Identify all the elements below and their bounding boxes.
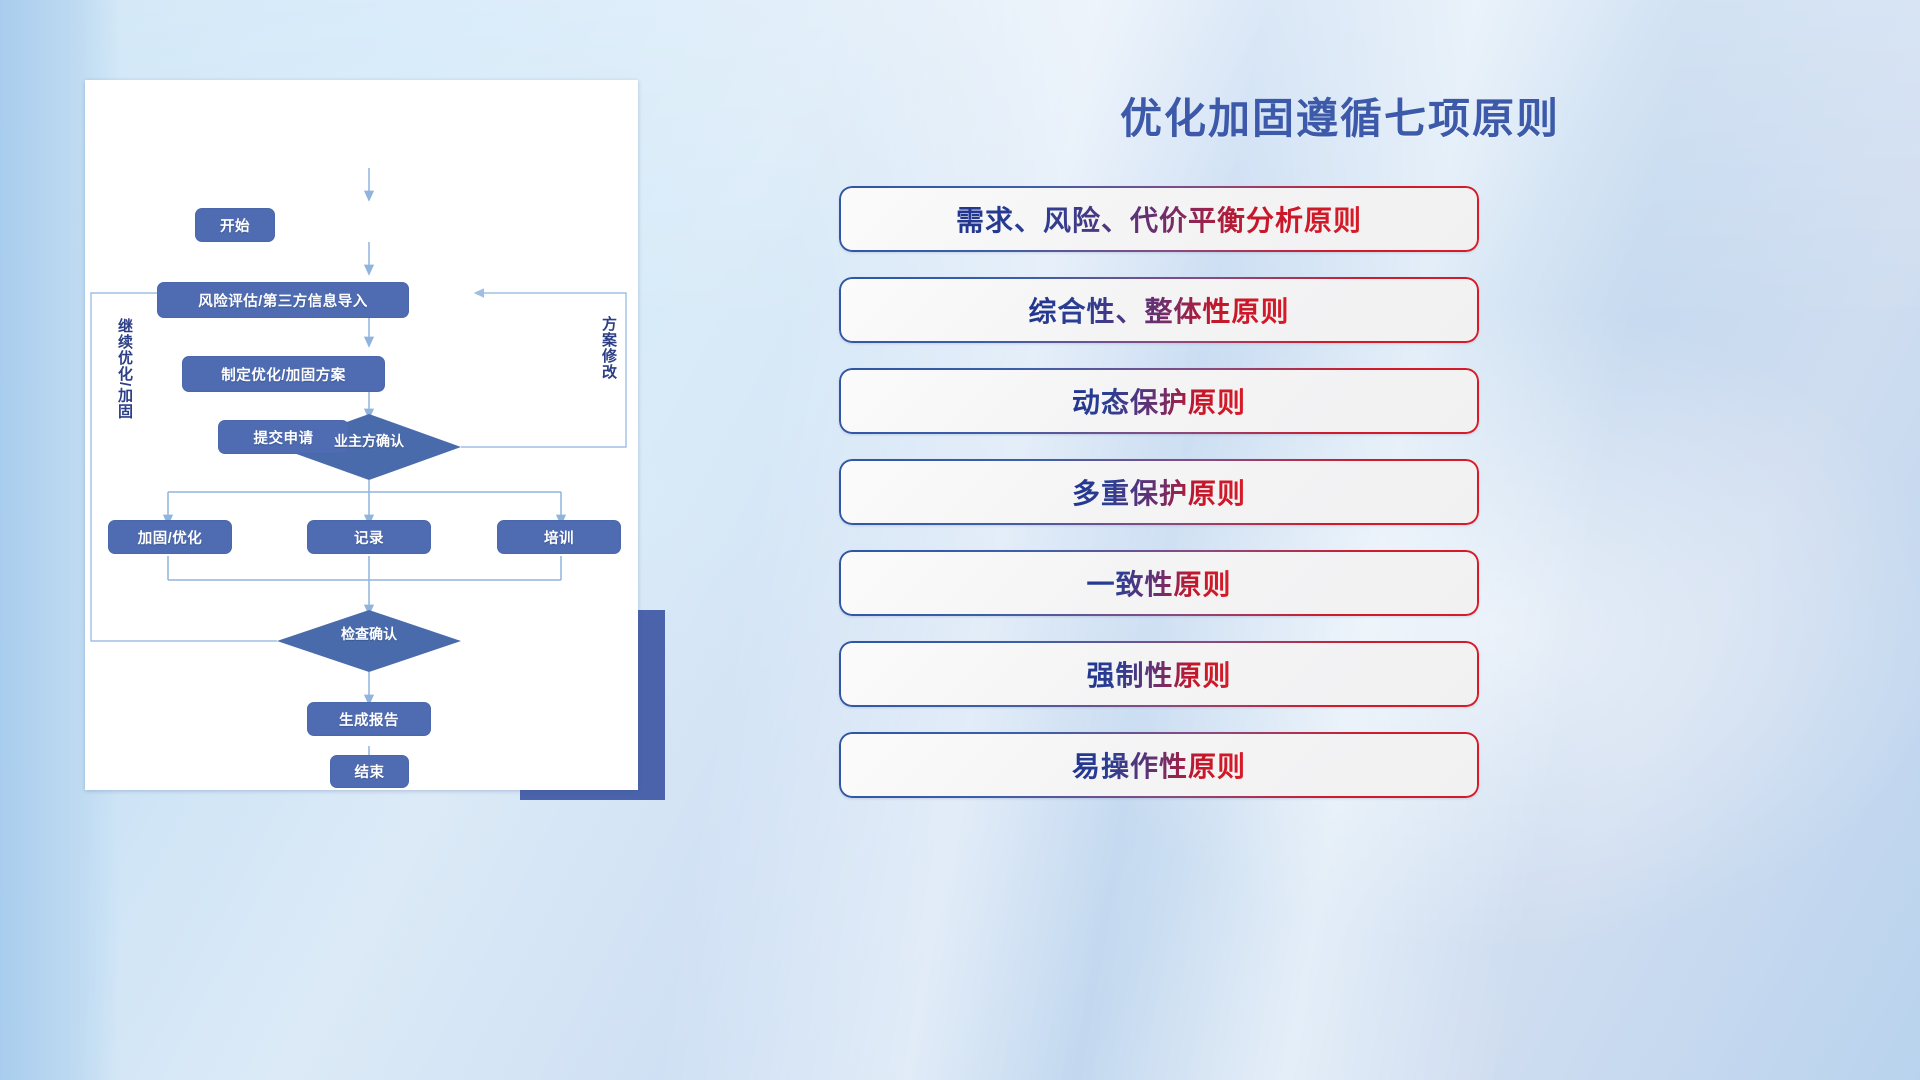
flow-node-end[interactable]: 结束 <box>330 755 409 788</box>
principle-card[interactable]: 综合性、整体性原则 <box>839 277 1479 343</box>
flow-node-label: 培训 <box>544 527 574 548</box>
flow-node-start[interactable]: 开始 <box>195 208 275 242</box>
flow-node-label: 加固/优化 <box>138 527 203 548</box>
principle-label: 多重保护原则 <box>1072 472 1246 512</box>
principle-label: 强制性原则 <box>1086 654 1231 694</box>
flow-node-check-confirm-label: 检查确认 <box>276 618 462 650</box>
principle-card[interactable]: 强制性原则 <box>839 641 1479 707</box>
list-item[interactable]: 一致性原则 <box>835 550 1845 640</box>
flow-node-label: 开始 <box>220 215 250 236</box>
list-item[interactable]: 综合性、整体性原则 <box>835 277 1845 367</box>
principle-card[interactable]: 动态保护原则 <box>839 368 1479 434</box>
edge-label-plan-revision: 方案修改 <box>601 316 616 380</box>
principle-label: 需求、风险、代价平衡分析原则 <box>956 199 1362 239</box>
flow-node-risk-assessment[interactable]: 风险评估/第三方信息导入 <box>157 282 409 318</box>
list-item[interactable]: 动态保护原则 <box>835 368 1845 458</box>
flow-node-owner-confirm-label: 业主方确认 <box>276 424 462 458</box>
flow-node-label: 记录 <box>354 527 384 548</box>
principle-card[interactable]: 一致性原则 <box>839 550 1479 616</box>
flow-node-record[interactable]: 记录 <box>307 520 431 554</box>
principle-label: 易操作性原则 <box>1072 745 1246 785</box>
principles-panel: 优化加固遵循七项原则 需求、风险、代价平衡分析原则 综合性、整体性原则 动态保护… <box>835 60 1845 1020</box>
principle-label: 动态保护原则 <box>1072 381 1246 421</box>
edge-label-continue-optimize: 继续优化/加固 <box>117 318 132 419</box>
panel-title: 优化加固遵循七项原则 <box>835 85 1845 146</box>
principle-card[interactable]: 易操作性原则 <box>839 732 1479 798</box>
list-item[interactable]: 多重保护原则 <box>835 459 1845 549</box>
flow-node-make-plan[interactable]: 制定优化/加固方案 <box>182 356 385 392</box>
principle-card[interactable]: 多重保护原则 <box>839 459 1479 525</box>
flow-node-training[interactable]: 培训 <box>497 520 621 554</box>
principles-list: 需求、风险、代价平衡分析原则 综合性、整体性原则 动态保护原则 多重保护原则 一 <box>835 186 1845 823</box>
flow-node-label: 风险评估/第三方信息导入 <box>198 290 368 311</box>
flow-node-reinforce-optimize[interactable]: 加固/优化 <box>108 520 232 554</box>
flow-node-generate-report[interactable]: 生成报告 <box>307 702 431 736</box>
flow-node-label: 结束 <box>355 761 385 782</box>
list-item[interactable]: 需求、风险、代价平衡分析原则 <box>835 186 1845 276</box>
flow-node-label: 生成报告 <box>339 709 399 730</box>
list-item[interactable]: 易操作性原则 <box>835 732 1845 822</box>
principle-card[interactable]: 需求、风险、代价平衡分析原则 <box>839 186 1479 252</box>
principle-label: 综合性、整体性原则 <box>1028 290 1289 330</box>
list-item[interactable]: 强制性原则 <box>835 641 1845 731</box>
flow-node-label: 制定优化/加固方案 <box>221 364 346 385</box>
principle-label: 一致性原则 <box>1086 563 1231 603</box>
